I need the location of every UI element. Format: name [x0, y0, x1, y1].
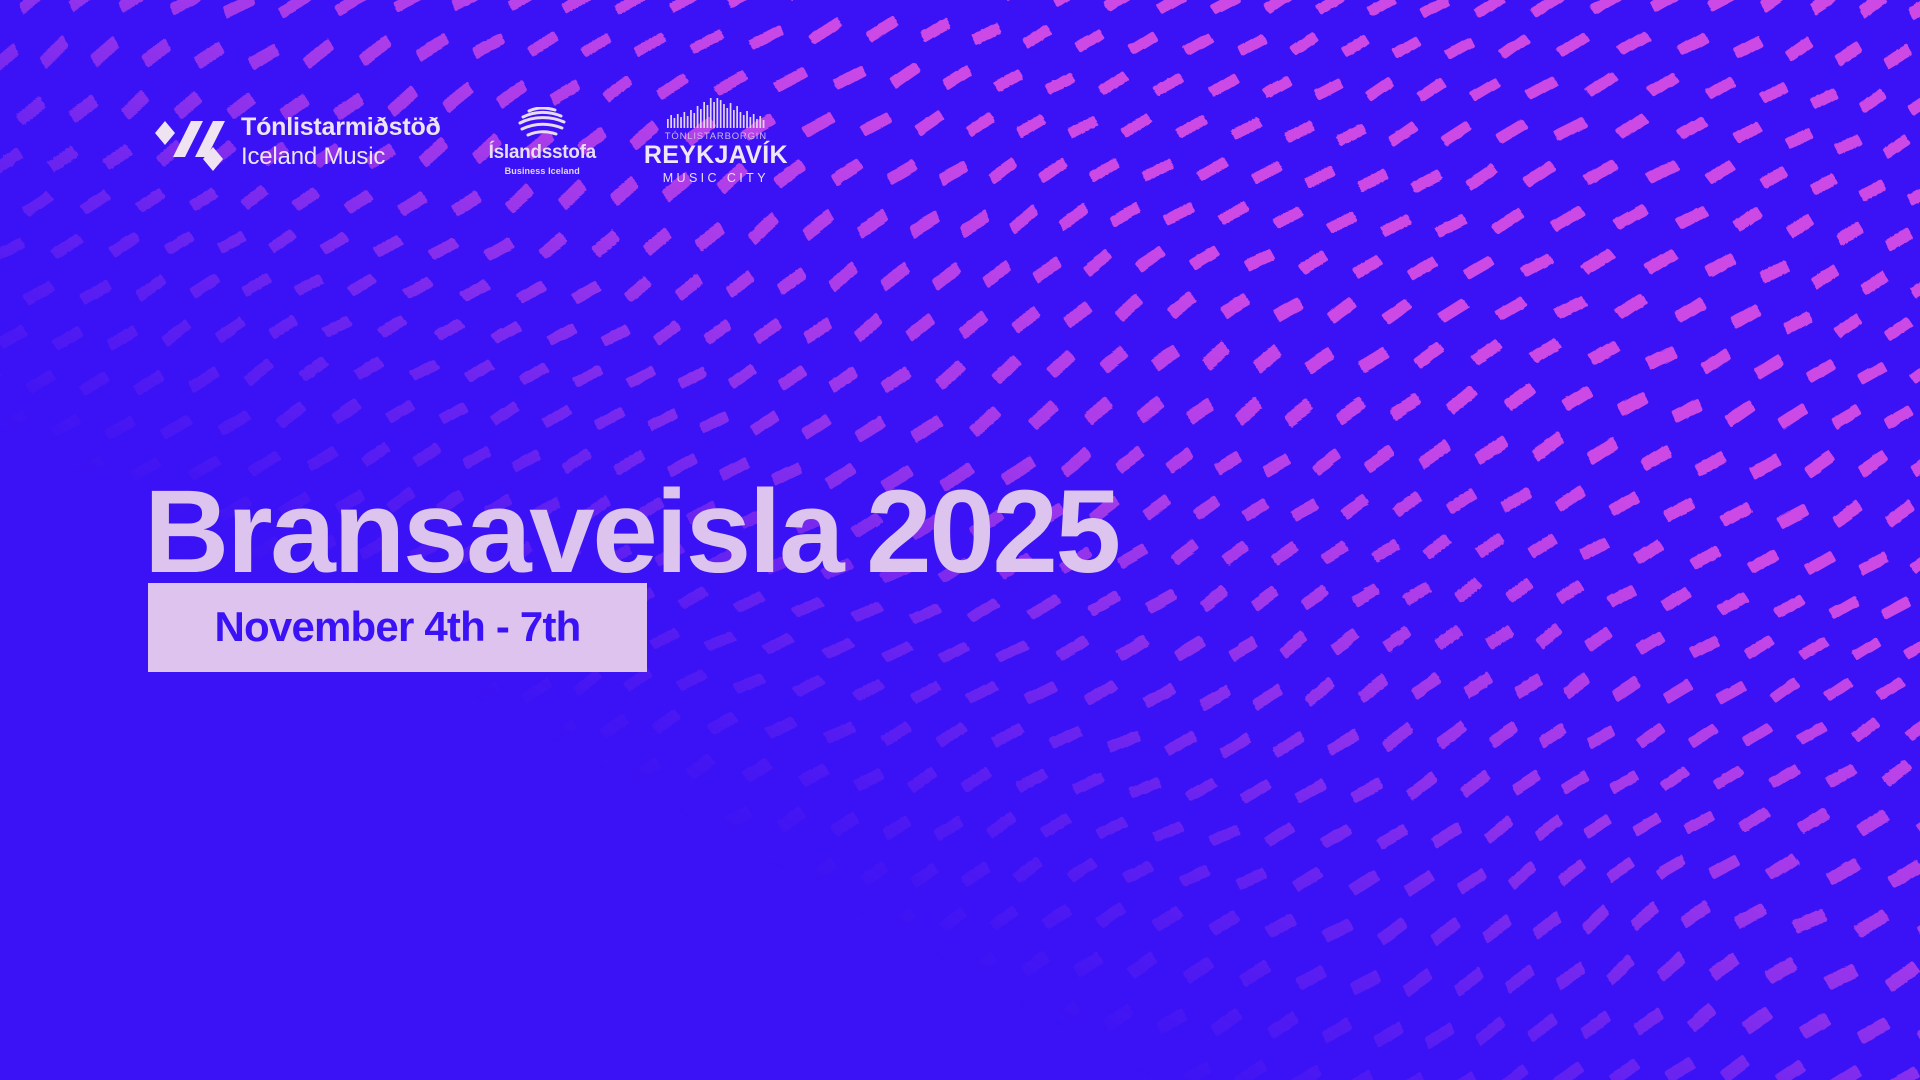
logo-subtitle: Business Iceland — [505, 166, 580, 176]
logo-title: Tónlistarmiðstöð — [241, 115, 441, 140]
sponsor-logo-bar: Tónlistarmiðstöð Iceland Music Íslandsst… — [143, 98, 788, 185]
diagonal-diamonds-icon — [143, 113, 225, 171]
logo-iceland-music: Tónlistarmiðstöð Iceland Music — [143, 113, 441, 171]
page-title-main: Bransaveisla — [144, 466, 842, 598]
iceland-music-wordmark: Tónlistarmiðstöð Iceland Music — [241, 115, 441, 169]
poster-canvas: Tónlistarmiðstöð Iceland Music Íslandsst… — [0, 0, 1920, 1080]
skyline-bars-icon — [667, 98, 765, 128]
logo-reykjavik-music-city: TÓNLISTARBORGIN REYKJAVÍK MUSIC CITY — [644, 98, 788, 185]
logo-subtitle: MUSIC CITY — [663, 171, 769, 185]
date-badge: November 4th - 7th — [148, 583, 647, 672]
logo-subtitle: Iceland Music — [241, 145, 441, 169]
logo-islandsstofa: Íslandsstofa Business Iceland — [489, 107, 596, 176]
logo-title: REYKJAVÍK — [644, 143, 788, 168]
wave-lines-icon — [511, 107, 573, 137]
logo-title: Íslandsstofa — [489, 142, 596, 164]
page-title: Bransaveisla2025 — [144, 473, 1119, 591]
date-badge-label: November 4th - 7th — [215, 603, 581, 651]
page-title-year: 2025 — [866, 466, 1119, 598]
